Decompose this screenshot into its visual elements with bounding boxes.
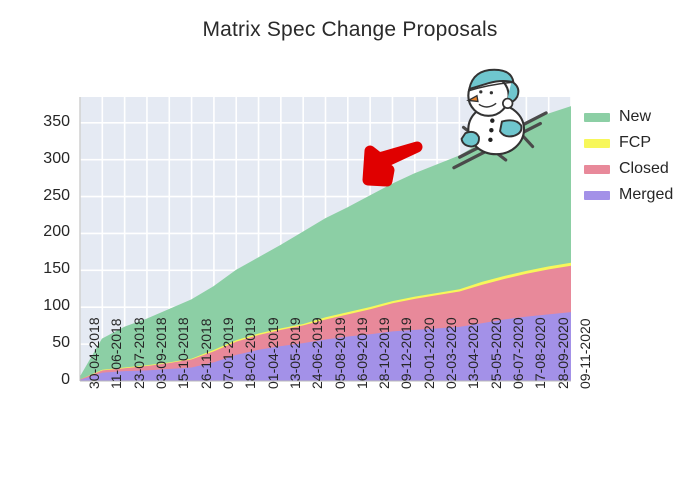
x-axis-tick-label: 09-11-2020 — [577, 318, 593, 389]
y-axis-tick-label: 50 — [10, 334, 70, 352]
x-axis-tick-label: 16-09-2019 — [354, 317, 370, 389]
x-axis-tick-label: 23-07-2018 — [131, 317, 147, 389]
x-axis-tick-label: 25-05-2020 — [488, 317, 504, 389]
y-axis-tick-label: 150 — [10, 260, 70, 278]
x-axis-tick-label: 06-07-2020 — [510, 317, 526, 389]
chart-legend: NewFCPClosedMerged — [584, 104, 700, 208]
y-axis-tick-label: 0 — [10, 371, 70, 389]
x-axis-tick-label: 13-05-2019 — [287, 317, 303, 389]
y-axis-tick-label: 350 — [10, 113, 70, 131]
x-axis-tick-label: 20-01-2020 — [421, 317, 437, 389]
legend-item-closed[interactable]: Closed — [584, 156, 700, 182]
y-axis-tick-label: 250 — [10, 187, 70, 205]
x-axis-tick-label: 07-01-2019 — [220, 317, 236, 389]
x-axis-tick-label: 30-04-2018 — [86, 317, 102, 389]
x-axis-tick-label: 17-08-2020 — [532, 317, 548, 389]
x-axis-tick-label: 26-11-2018 — [198, 318, 214, 389]
legend-item-label: Closed — [619, 161, 669, 177]
legend-swatch-icon — [584, 191, 610, 200]
legend-swatch-icon — [584, 139, 610, 148]
chart-figure: Matrix Spec Change Proposals — [0, 0, 700, 500]
x-axis-tick-label: 18-02-2019 — [242, 317, 258, 389]
x-axis-tick-label: 11-06-2018 — [108, 318, 124, 389]
legend-item-new[interactable]: New — [584, 104, 700, 130]
x-axis-tick-label: 09-12-2019 — [398, 317, 414, 389]
x-axis-tick-label: 03-09-2018 — [153, 317, 169, 389]
x-axis-tick-label: 24-06-2019 — [309, 317, 325, 389]
y-axis-tick-label: 200 — [10, 223, 70, 241]
legend-swatch-icon — [584, 113, 610, 122]
x-axis-tick-label: 13-04-2020 — [465, 317, 481, 389]
plot-area-svg — [0, 0, 700, 500]
x-axis-tick-label: 05-08-2019 — [332, 317, 348, 389]
legend-swatch-icon — [584, 165, 610, 174]
legend-item-merged[interactable]: Merged — [584, 182, 700, 208]
x-axis-tick-label: 02-03-2020 — [443, 317, 459, 389]
x-axis-tick-label: 28-10-2019 — [376, 317, 392, 389]
x-axis-tick-label: 01-04-2019 — [265, 317, 281, 389]
legend-item-label: FCP — [619, 135, 651, 151]
y-axis-tick-label: 100 — [10, 297, 70, 315]
legend-item-label: Merged — [619, 187, 673, 203]
y-axis-tick-label: 300 — [10, 150, 70, 168]
x-axis-tick-label: 15-10-2018 — [175, 317, 191, 389]
x-axis-tick-label: 28-09-2020 — [555, 317, 571, 389]
legend-item-label: New — [619, 109, 651, 125]
legend-item-fcp[interactable]: FCP — [584, 130, 700, 156]
